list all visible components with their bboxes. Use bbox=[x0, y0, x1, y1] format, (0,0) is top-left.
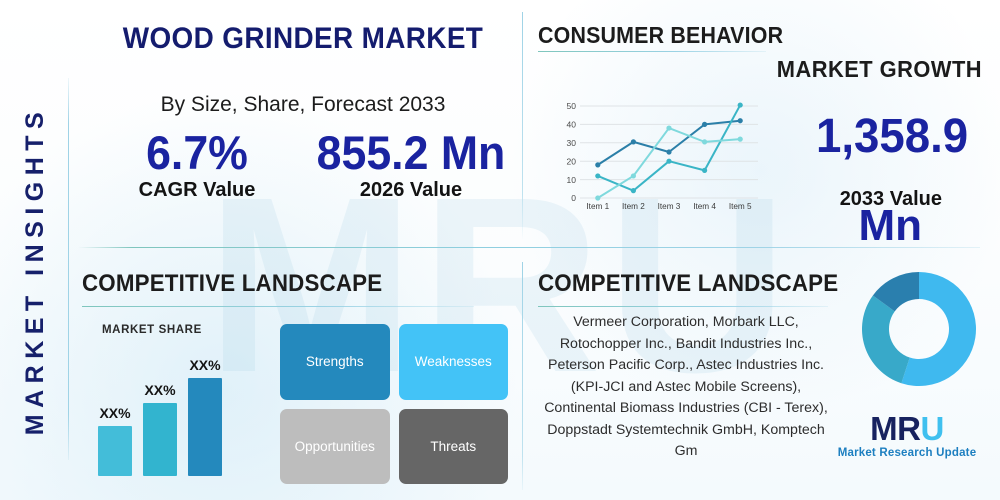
infographic-root: MRU MARKET INSIGHTS WOOD GRINDER MARKET … bbox=[0, 0, 1000, 500]
swot-box-opportunities[interactable]: Opportunities bbox=[280, 409, 390, 485]
swot-label-strengths: Strengths bbox=[306, 354, 364, 369]
mru-logo: MRU Market Research Update bbox=[832, 412, 982, 459]
market-growth-unit: Mn bbox=[858, 204, 922, 248]
swot-box-strengths[interactable]: Strengths bbox=[280, 324, 390, 400]
swot-label-threats: Threats bbox=[430, 439, 476, 454]
market-share-bar-3: XX% bbox=[188, 357, 222, 476]
market-share-bar-chart: XX%XX%XX% bbox=[98, 336, 238, 476]
kpi-row: 6.7% CAGR Value 855.2 Mn 2026 Value bbox=[90, 128, 518, 202]
kpi-cagr-label: CAGR Value bbox=[90, 179, 304, 202]
swot-grid: Strengths Weaknesses Opportunities Threa… bbox=[280, 324, 508, 484]
kpi-2026-label: 2026 Value bbox=[304, 179, 518, 202]
svg-text:Item 4: Item 4 bbox=[693, 202, 716, 211]
consumer-behavior-heading: CONSUMER BEHAVIOR bbox=[538, 22, 783, 49]
competitive-landscape-right-heading: COMPETITIVE LANDSCAPE bbox=[538, 270, 838, 298]
market-share-bar-rect-2 bbox=[143, 403, 177, 476]
kpi-2026: 855.2 Mn 2026 Value bbox=[304, 128, 518, 202]
competitive-landscape-right-panel: COMPETITIVE LANDSCAPE Vermeer Corporatio… bbox=[534, 262, 990, 494]
competitive-landscape-left-panel: COMPETITIVE LANDSCAPE MARKET SHARE XX%XX… bbox=[78, 262, 518, 494]
kpi-2026-value: 855.2 Mn bbox=[309, 128, 512, 177]
consumer-behavior-rule bbox=[538, 51, 766, 52]
title-panel: WOOD GRINDER MARKET By Size, Share, Fore… bbox=[78, 8, 518, 243]
line-chart-svg: 01020304050Item 1Item 2Item 3Item 4Item … bbox=[554, 100, 764, 220]
market-growth-heading: MARKET GROWTH bbox=[777, 56, 982, 83]
logo-mark-accent: U bbox=[920, 410, 943, 447]
svg-text:Item 2: Item 2 bbox=[622, 202, 645, 211]
logo-tagline: Market Research Update bbox=[832, 447, 982, 459]
logo-mark-dark: MR bbox=[870, 410, 920, 447]
vertical-divider-top bbox=[522, 12, 523, 240]
consumer-behavior-panel: CONSUMER BEHAVIOR MARKET GROWTH 1,358.9 … bbox=[534, 8, 990, 243]
swot-box-threats[interactable]: Threats bbox=[399, 409, 509, 485]
svg-text:40: 40 bbox=[567, 120, 577, 130]
company-list: Vermeer Corporation, Morbark LLC, Rotoch… bbox=[536, 312, 836, 463]
market-share-label: MARKET SHARE bbox=[102, 324, 202, 336]
kpi-cagr-value: 6.7% bbox=[95, 128, 298, 177]
sidebar-divider bbox=[68, 78, 69, 460]
donut-chart-svg bbox=[860, 270, 978, 388]
svg-text:20: 20 bbox=[567, 156, 577, 166]
market-share-bar-rect-1 bbox=[98, 426, 132, 476]
svg-text:10: 10 bbox=[567, 175, 577, 185]
market-share-bar-2: XX% bbox=[143, 382, 177, 476]
competitive-landscape-left-rule bbox=[82, 306, 474, 307]
market-growth-value: 1,358.9 bbox=[816, 113, 968, 161]
consumer-behavior-line-chart: 01020304050Item 1Item 2Item 3Item 4Item … bbox=[554, 100, 764, 220]
svg-text:Item 5: Item 5 bbox=[729, 202, 752, 211]
market-share-donut-chart bbox=[860, 270, 978, 393]
svg-text:50: 50 bbox=[567, 101, 577, 111]
logo-mark: MRU bbox=[832, 412, 982, 445]
market-share-bar-label-1: XX% bbox=[98, 405, 132, 421]
swot-box-weaknesses[interactable]: Weaknesses bbox=[399, 324, 509, 400]
market-share-bar-label-2: XX% bbox=[143, 382, 177, 398]
sidebar-vertical-label: MARKET INSIGHTS bbox=[8, 70, 64, 470]
competitive-landscape-right-rule bbox=[538, 306, 828, 307]
kpi-cagr: 6.7% CAGR Value bbox=[90, 128, 304, 202]
horizontal-divider bbox=[78, 247, 980, 248]
swot-label-opportunities: Opportunities bbox=[295, 439, 375, 454]
svg-text:0: 0 bbox=[571, 193, 576, 203]
market-share-bar-rect-3 bbox=[188, 378, 222, 476]
vertical-divider-bottom bbox=[522, 262, 523, 490]
swot-label-weaknesses: Weaknesses bbox=[415, 354, 492, 369]
svg-text:Item 3: Item 3 bbox=[658, 202, 681, 211]
sidebar-label-text: MARKET INSIGHTS bbox=[22, 105, 51, 434]
svg-text:Item 1: Item 1 bbox=[586, 202, 609, 211]
page-subtitle: By Size, Share, Forecast 2033 bbox=[98, 93, 508, 117]
svg-text:30: 30 bbox=[567, 138, 577, 148]
page-title: WOOD GRINDER MARKET bbox=[122, 22, 485, 56]
donut-segment-2 bbox=[862, 295, 910, 383]
market-share-bar-label-3: XX% bbox=[188, 357, 222, 373]
competitive-landscape-left-heading: COMPETITIVE LANDSCAPE bbox=[82, 270, 382, 298]
market-share-bar-1: XX% bbox=[98, 405, 132, 476]
